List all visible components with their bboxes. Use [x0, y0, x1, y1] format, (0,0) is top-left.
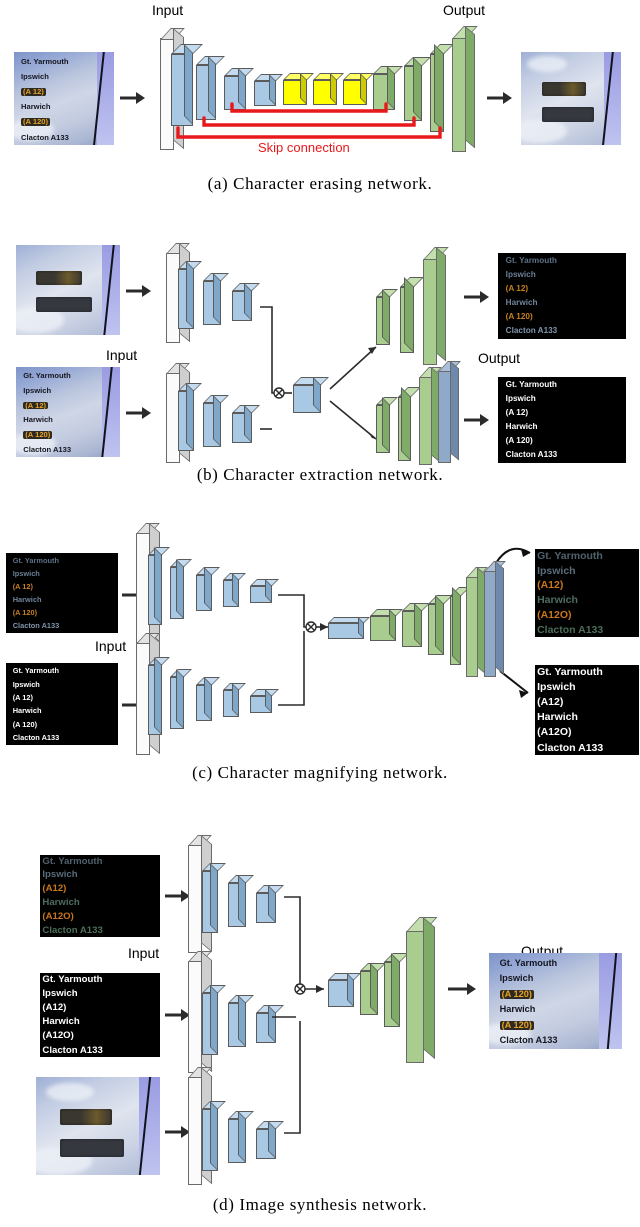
mask-line: Gt. Yarmouth: [506, 257, 623, 265]
panel-c-caption: (c) Character magnifying network.: [0, 763, 640, 783]
mask-line: (A12): [537, 580, 638, 591]
mask-line: (A 12): [506, 409, 623, 417]
decoder-block: [402, 603, 422, 647]
mask-line: Harwich: [506, 299, 623, 307]
decoder-block: [376, 289, 390, 345]
sign-line: Gt. Yarmouth: [500, 959, 614, 968]
mask-line: Harwich: [537, 595, 638, 606]
mask-line: (A12O): [537, 610, 638, 621]
panel-a-caption: (a) Character erasing network.: [0, 174, 640, 194]
mask-line: Harwich: [506, 423, 623, 431]
panel-a: Input Output Gt. Yarmouth Ipswich (A 12)…: [0, 0, 640, 200]
mask-line: (A12): [537, 697, 638, 708]
panel-d-output-plane: [406, 917, 434, 1063]
panel-b-output-plane-1: [423, 247, 445, 365]
decoder-block: [384, 953, 400, 1027]
panel-c-output-image-1: Gt. Yarmouth Ipswich (A12) Harwich (A12O…: [535, 549, 639, 637]
panel-d-latent-block: [328, 973, 354, 1007]
panel-a-output-image: [521, 52, 621, 145]
decoder-block: [400, 277, 414, 353]
panel-b-output-plane-2b: [438, 361, 458, 463]
panel-b-output-image-2: Gt. Yarmouth Ipswich (A 12) Harwich (A 1…: [498, 377, 626, 463]
panel-b-caption: (b) Character extraction network.: [0, 465, 640, 485]
erased-region: [542, 107, 594, 122]
sign-line: Ipswich: [500, 974, 614, 983]
panel-b-output-image-1: Gt. Yarmouth Ipswich (A 12) Harwich (A 1…: [498, 253, 626, 339]
panel-c: Gt. Yarmouth Ipswich (A 12) Harwich (A 1…: [0, 505, 640, 790]
decoder-block: [360, 963, 378, 1015]
mask-line: Gt. Yarmouth: [506, 381, 623, 389]
cloud: [527, 56, 567, 72]
panel-c-output-image-2: Gt. Yarmouth Ipswich (A12) Harwich (A12O…: [535, 665, 639, 755]
mask-line: Clacton A133: [506, 327, 623, 335]
mask-line: (A12O): [537, 727, 638, 738]
mask-line: Clacton A133: [506, 451, 623, 459]
mask-line: Ipswich: [537, 682, 638, 693]
panel-d-output-image: Gt. Yarmouth Ipswich (A 120) Harwich (A …: [489, 953, 622, 1049]
mask-line: Ipswich: [506, 271, 623, 279]
panel-a-skip-label: Skip connection: [258, 140, 350, 155]
mask-line: Ipswich: [506, 395, 623, 403]
panel-c-output-plane-blue: [484, 561, 504, 677]
sign-line: Clacton A133: [500, 1036, 614, 1045]
erased-region: [542, 82, 586, 96]
panel-c-latent-block: [328, 617, 364, 639]
panel-b: Gt. Yarmouth Ipswich (A 12) Harwich (A 1…: [0, 225, 640, 490]
mask-line: (A 12): [506, 285, 623, 293]
mask-line: Harwich: [537, 712, 638, 723]
panel-c-output-plane-green: [466, 567, 486, 677]
sign-line-highlight: (A 120): [500, 1021, 614, 1030]
mask-line: Gt. Yarmouth: [537, 667, 638, 678]
decoder-block: [370, 609, 396, 641]
decoder-block: [376, 397, 390, 453]
mask-line: Clacton A133: [537, 625, 638, 636]
mask-line: (A 120): [506, 437, 623, 445]
sign-line: Harwich: [500, 1005, 614, 1014]
panel-b-latent-block: [293, 377, 321, 413]
sign-line-highlight: (A 120): [500, 990, 614, 999]
mask-line: Gt. Yarmouth: [537, 551, 638, 562]
mask-line: (A 120): [506, 313, 623, 321]
panel-b-output-plane-2a: [419, 367, 439, 465]
panel-d: Gt. Yarmouth Ipswich (A12) Harwich (A12O…: [0, 805, 640, 1227]
decoder-block: [450, 587, 461, 665]
mask-line: Ipswich: [537, 566, 638, 577]
panel-d-caption: (d) Image synthesis network.: [0, 1195, 640, 1215]
decoder-block: [398, 387, 411, 461]
decoder-block: [428, 595, 444, 655]
mask-line: Clacton A133: [537, 743, 638, 754]
